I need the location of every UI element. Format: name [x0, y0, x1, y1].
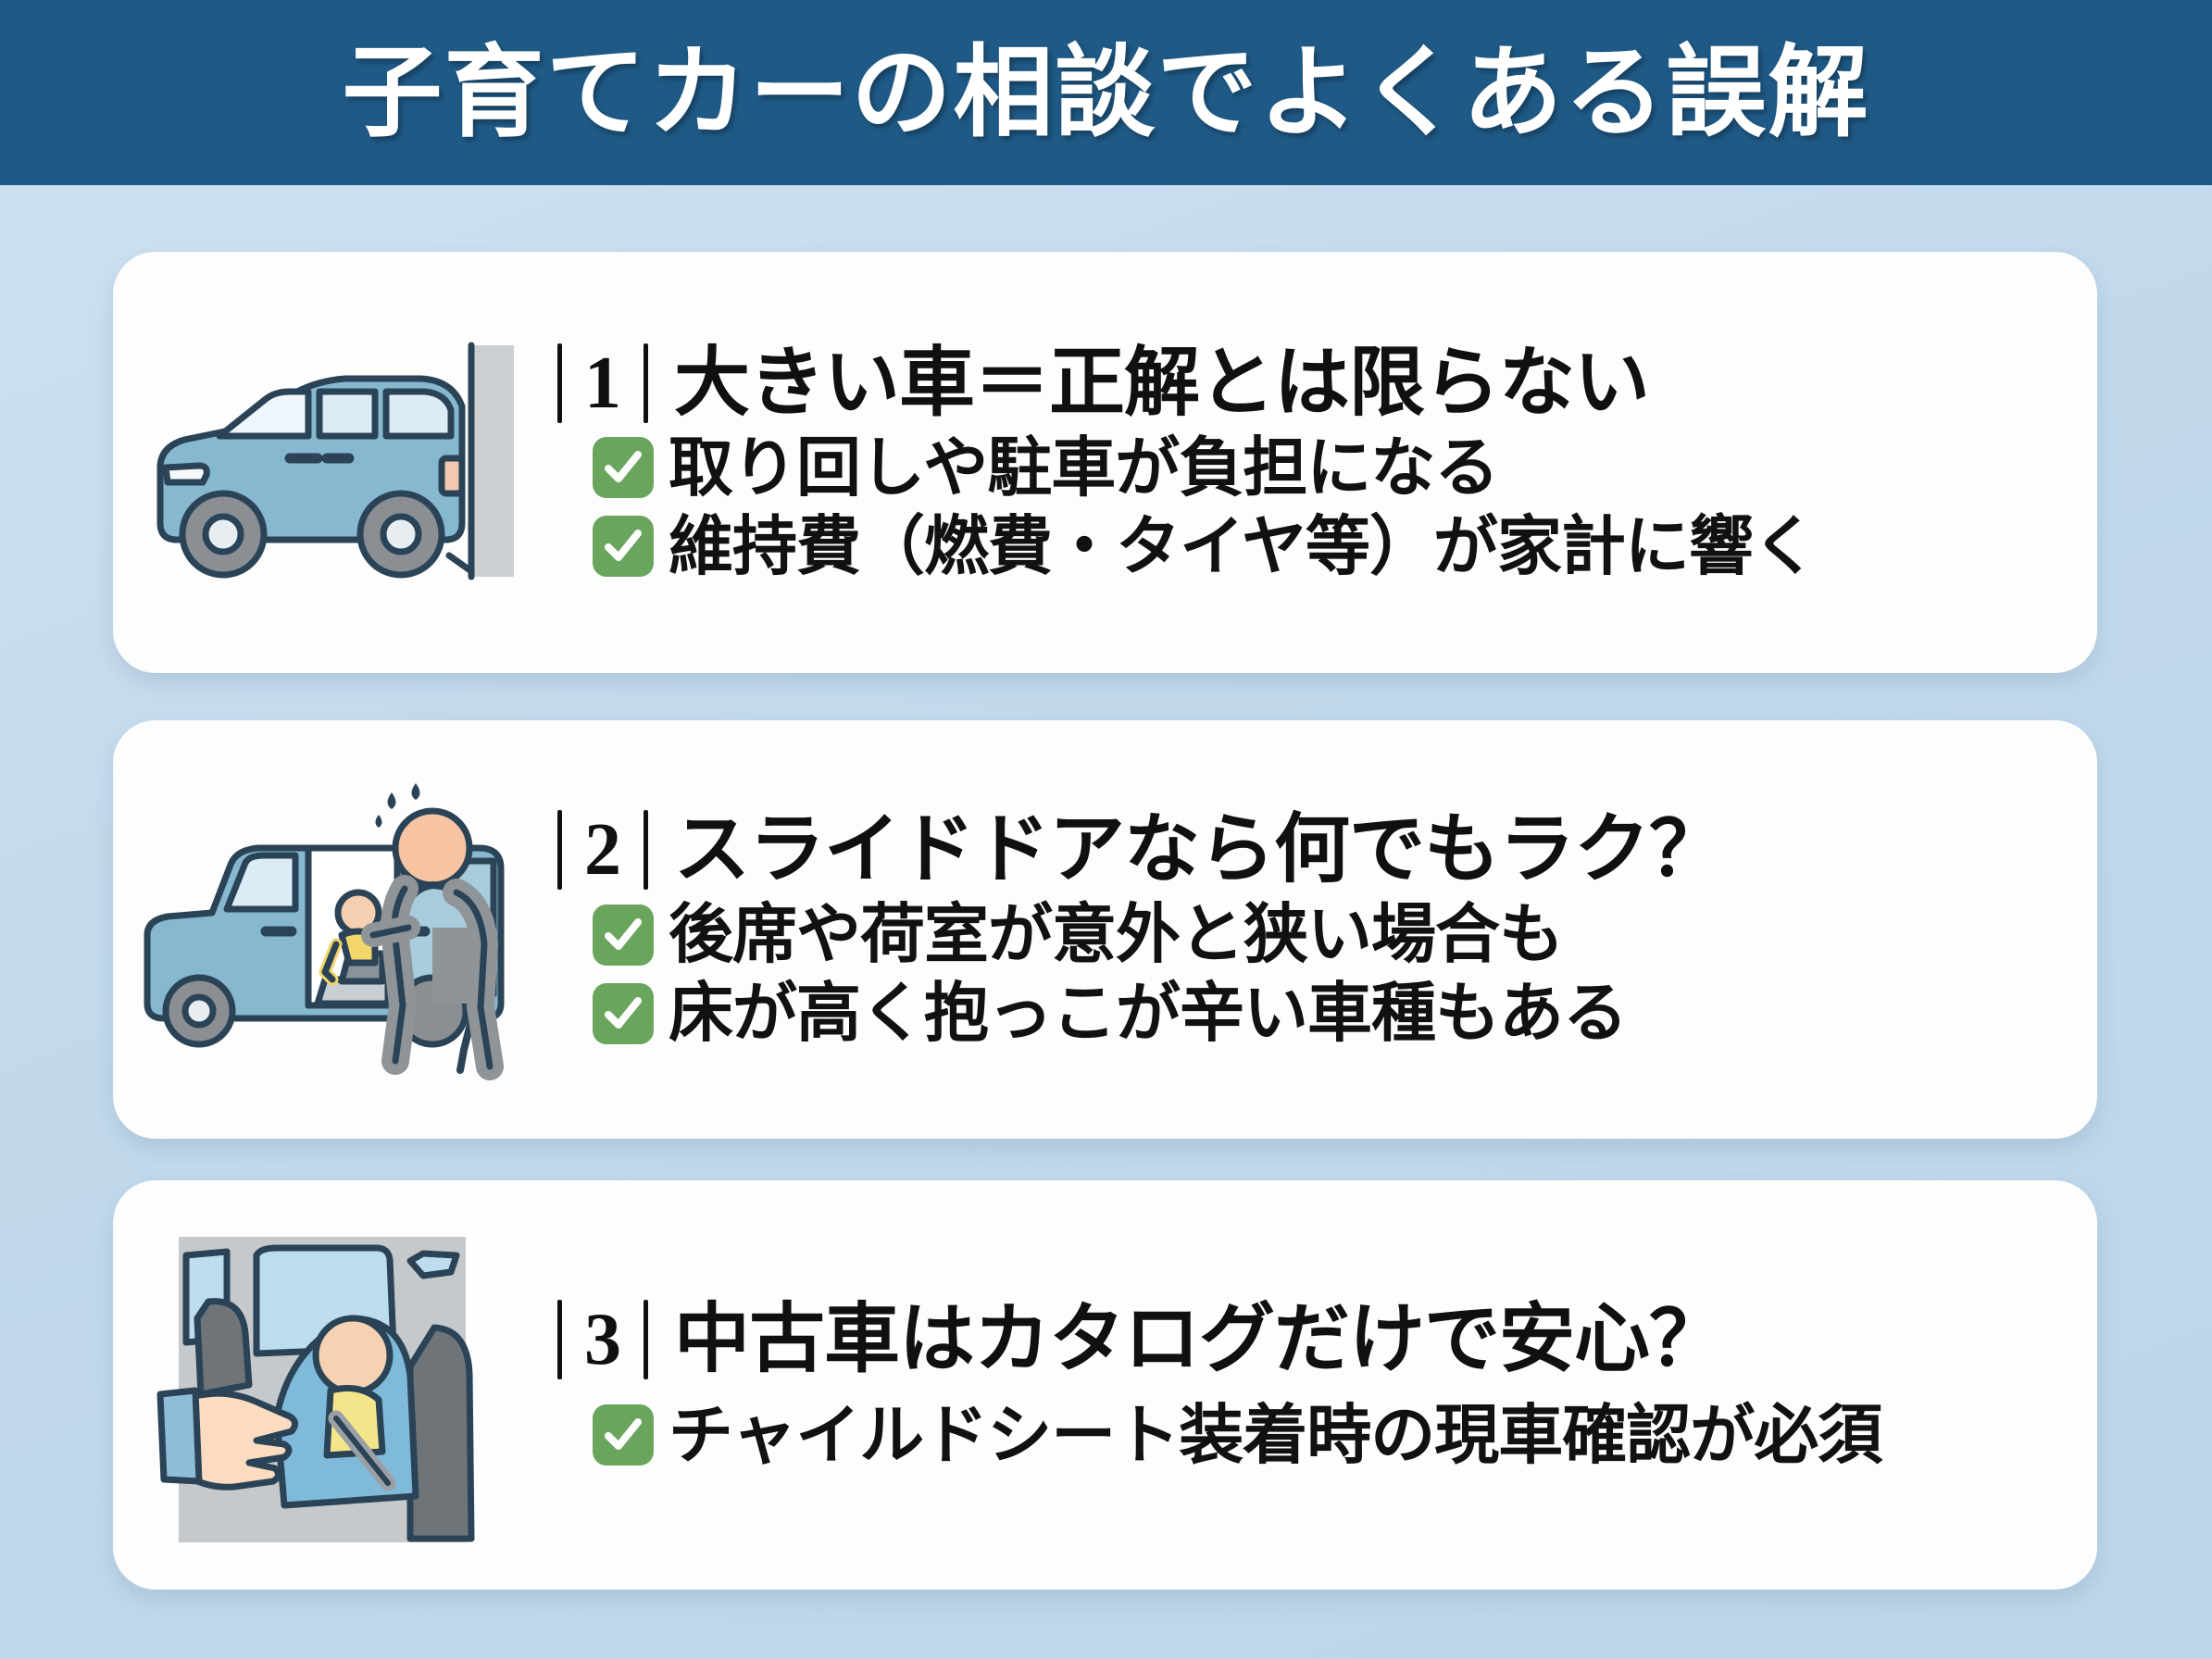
bullet-text: チャイルドシート装着時の現車確認が必須 [669, 1400, 1881, 1471]
bullet-text: 後席や荷室が意外と狭い場合も [669, 899, 1563, 970]
minivan-icon [127, 329, 534, 597]
card-2-number: 2 [562, 813, 644, 887]
parent-lifting-child-icon [127, 772, 534, 1087]
bullet-item: 取り回しや駐車が負担になる [593, 432, 2069, 504]
check-icon [593, 1404, 654, 1466]
check-icon [593, 983, 654, 1044]
poster-title: 子育てカーの相談でよくある誤解 [342, 43, 1869, 143]
poster-header: 子育てカーの相談でよくある誤解 [0, 0, 2212, 185]
hand-pointing-child-seat-icon [145, 1218, 516, 1552]
bullet-item: チャイルドシート装着時の現車確認が必須 [593, 1400, 2069, 1471]
bullet-text: 維持費（燃費・タイヤ等）が家計に響く [669, 511, 1817, 582]
check-icon [593, 437, 654, 498]
child-seat-check-illustration [113, 1214, 548, 1556]
card-3-body: 3 中古車はカタログだけで安心？ チャイルドシート装着時の現車確認が必須 [548, 1300, 2097, 1471]
check-icon [593, 904, 654, 966]
card-3-number: 3 [562, 1303, 644, 1377]
bullet-text: 床が高く抱っこが辛い車種もある [669, 978, 1627, 1049]
card-2-bullets: 後席や荷室が意外と狭い場合も 床が高く抱っこが辛い車種もある [557, 899, 2069, 1049]
check-icon [593, 516, 654, 577]
card-3-heading: 3 中古車はカタログだけで安心？ [557, 1300, 2069, 1379]
card-3-heading-text: 中古車はカタログだけで安心？ [648, 1301, 1724, 1378]
card-2-body: 2 スライドドアなら何でもラク？ 後席や荷室が意外と狭い場合も 床が高く抱っこが… [548, 810, 2097, 1049]
infographic-poster: 子育てカーの相談でよくある誤解 [0, 0, 2212, 1659]
minivan-illustration [113, 324, 548, 602]
card-3-bullets: チャイルドシート装着時の現車確認が必須 [557, 1400, 2069, 1471]
misconception-card-3: 3 中古車はカタログだけで安心？ チャイルドシート装着時の現車確認が必須 [113, 1180, 2097, 1590]
card-2-heading: 2 スライドドアなら何でもラク？ [557, 810, 2069, 890]
parent-child-van-illustration [113, 763, 548, 1096]
bullet-item: 床が高く抱っこが辛い車種もある [593, 978, 2069, 1049]
bullet-text: 取り回しや駐車が負担になる [669, 432, 1498, 504]
card-1-heading-text: 大きい車＝正解とは限らない [648, 344, 1649, 422]
bullet-item: 後席や荷室が意外と狭い場合も [593, 899, 2069, 970]
misconception-card-1: 1 大きい車＝正解とは限らない 取り回しや駐車が負担になる 維持費（燃費・タイヤ… [113, 252, 2097, 673]
card-1-heading: 1 大きい車＝正解とは限らない [557, 343, 2069, 423]
bullet-item: 維持費（燃費・タイヤ等）が家計に響く [593, 511, 2069, 582]
card-1-number: 1 [562, 346, 644, 420]
card-2-heading-text: スライドドアなら何でもラク？ [648, 811, 1724, 889]
card-1-bullets: 取り回しや駐車が負担になる 維持費（燃費・タイヤ等）が家計に響く [557, 432, 2069, 582]
card-1-body: 1 大きい車＝正解とは限らない 取り回しや駐車が負担になる 維持費（燃費・タイヤ… [548, 343, 2097, 582]
misconception-card-2: 2 スライドドアなら何でもラク？ 後席や荷室が意外と狭い場合も 床が高く抱っこが… [113, 720, 2097, 1139]
